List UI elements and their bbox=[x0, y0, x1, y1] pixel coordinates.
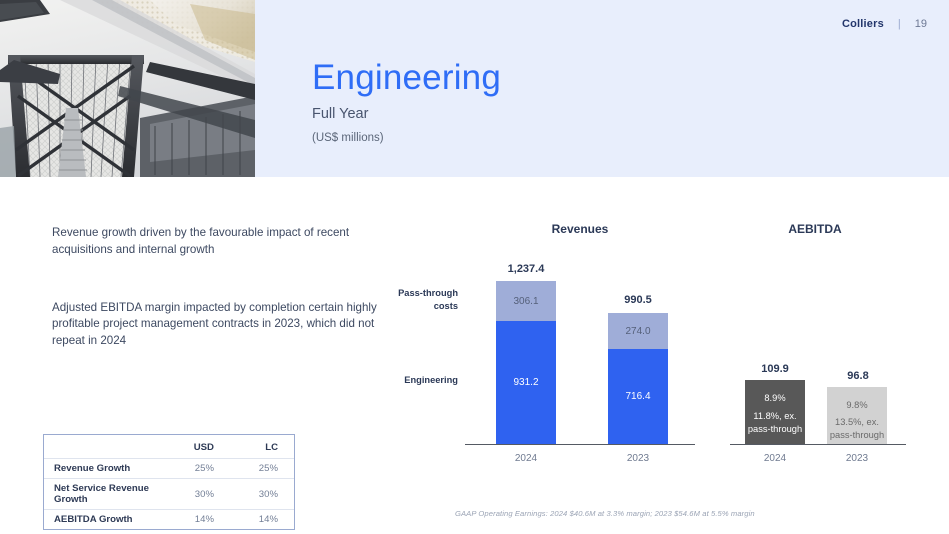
aebitda-margin-2023: 9.8% bbox=[827, 399, 887, 412]
segment-value: 931.2 bbox=[513, 377, 538, 388]
aebitda-xtick-2023: 2023 bbox=[827, 453, 887, 464]
aebitda-chart-title: AEBITDA bbox=[735, 222, 895, 236]
commentary-paragraph-2: Adjusted EBITDA margin impacted by compl… bbox=[52, 300, 382, 350]
column-header-metric bbox=[44, 435, 166, 459]
revenues-segment-pass-through-2024[interactable]: 306.1 bbox=[496, 281, 556, 321]
revenues-xtick-2024: 2024 bbox=[496, 453, 556, 464]
aebitda-bar-2024[interactable]: 8.9% 11.8%, ex. pass-through bbox=[745, 380, 805, 444]
legend-label-pass-through: Pass-through costs bbox=[398, 287, 458, 312]
page-number: 19 bbox=[915, 18, 927, 30]
aebitda-margin-2024: 8.9% bbox=[745, 392, 805, 405]
aebitda-margin-ex-pass-through-2023: 13.5%, ex. pass-through bbox=[827, 416, 887, 443]
row-label: Revenue Growth bbox=[44, 459, 166, 479]
table-row: AEBITDA Growth 14% 14% bbox=[44, 510, 294, 530]
revenues-total-label-2023: 990.5 bbox=[580, 294, 696, 306]
segment-value: 274.0 bbox=[625, 326, 650, 337]
revenues-bar-2024[interactable]: 306.1 931.2 bbox=[496, 281, 556, 444]
segment-value: 306.1 bbox=[513, 296, 538, 307]
aebitda-xtick-2024: 2024 bbox=[745, 453, 805, 464]
row-label: Net Service Revenue Growth bbox=[44, 479, 166, 510]
growth-metrics-table: USD LC Revenue Growth 25% 25% Net Servic… bbox=[43, 434, 295, 530]
hero-photo bbox=[0, 0, 255, 177]
revenues-chart-title: Revenues bbox=[470, 222, 690, 236]
row-lc-value: 30% bbox=[230, 479, 294, 510]
page-subtitle: Full Year bbox=[312, 106, 501, 122]
aebitda-margin-ex-pass-through-2024: 11.8%, ex. pass-through bbox=[745, 410, 805, 437]
brand-header: Colliers | 19 bbox=[842, 18, 927, 30]
row-usd-value: 14% bbox=[166, 510, 230, 530]
row-label: AEBITDA Growth bbox=[44, 510, 166, 530]
gaap-footnote: GAAP Operating Earnings: 2024 $40.6M at … bbox=[455, 509, 755, 518]
table-row: Net Service Revenue Growth 30% 30% bbox=[44, 479, 294, 510]
table-row: Revenue Growth 25% 25% bbox=[44, 459, 294, 479]
revenues-segment-engineering-2024[interactable]: 931.2 bbox=[496, 321, 556, 444]
revenues-xtick-2023: 2023 bbox=[608, 453, 668, 464]
row-usd-value: 25% bbox=[166, 459, 230, 479]
row-lc-value: 25% bbox=[230, 459, 294, 479]
column-header-lc: LC bbox=[230, 435, 294, 459]
commentary-paragraph-1: Revenue growth driven by the favourable … bbox=[52, 225, 382, 259]
row-usd-value: 30% bbox=[166, 479, 230, 510]
column-header-usd: USD bbox=[166, 435, 230, 459]
segment-value: 716.4 bbox=[625, 391, 650, 402]
aebitda-total-label-2023: 96.8 bbox=[805, 370, 911, 382]
page-title: Engineering bbox=[312, 60, 501, 97]
aebitda-axis-line bbox=[730, 444, 906, 445]
commentary-block: Revenue growth driven by the favourable … bbox=[52, 225, 382, 350]
revenues-axis-line bbox=[465, 444, 695, 445]
title-block: Engineering Full Year (US$ millions) bbox=[312, 60, 501, 144]
revenues-bar-2023[interactable]: 274.0 716.4 bbox=[608, 313, 668, 444]
legend-label-engineering: Engineering bbox=[398, 374, 458, 387]
units-note: (US$ millions) bbox=[312, 132, 501, 144]
aebitda-bar-2023[interactable]: 9.8% 13.5%, ex. pass-through bbox=[827, 387, 887, 444]
revenues-segment-pass-through-2023[interactable]: 274.0 bbox=[608, 313, 668, 349]
brand-name: Colliers bbox=[842, 18, 884, 30]
revenues-segment-engineering-2023[interactable]: 716.4 bbox=[608, 349, 668, 444]
revenues-total-label-2024: 1,237.4 bbox=[468, 263, 584, 275]
table-header-row: USD LC bbox=[44, 435, 294, 459]
row-lc-value: 14% bbox=[230, 510, 294, 530]
brand-divider: | bbox=[898, 18, 901, 30]
